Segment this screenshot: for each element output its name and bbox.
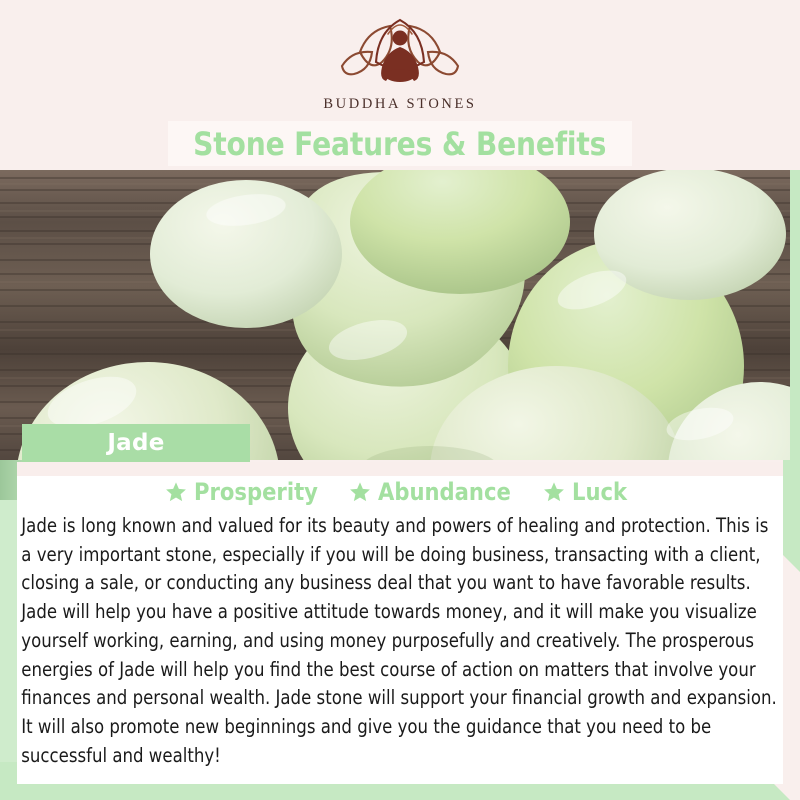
brand-logo: BUDDHA STONES: [0, 12, 800, 113]
benefit-item: Abundance: [349, 478, 529, 506]
stone-description: Jade is long known and valued for its be…: [17, 512, 783, 770]
panel-top-fade: [17, 462, 783, 476]
benefit-label: Luck: [572, 478, 627, 506]
title-banner: Stone Features & Benefits: [168, 121, 632, 166]
stone-info-poster: BUDDHA STONES Stone Features & Benefits …: [0, 0, 800, 800]
benefit-item: Prosperity: [165, 478, 335, 506]
brand-name: BUDDHA STONES: [0, 96, 800, 113]
stone-name-badge: Jade: [22, 424, 250, 462]
benefits-row: Prosperity Abundance Luck: [17, 478, 783, 506]
star-icon: [349, 481, 371, 503]
jade-stones-photo: [0, 170, 790, 460]
star-icon: [543, 481, 565, 503]
stone-name-label: Jade: [22, 430, 250, 456]
benefit-label: Prosperity: [194, 478, 318, 506]
star-icon: [165, 481, 187, 503]
lotus-meditation-logo-icon: [330, 12, 470, 92]
content-panel: Prosperity Abundance Luck Jade is long k…: [17, 462, 783, 784]
benefit-item: Luck: [543, 478, 635, 506]
benefit-label: Abundance: [378, 478, 511, 506]
page-title: Stone Features & Benefits: [193, 125, 606, 163]
